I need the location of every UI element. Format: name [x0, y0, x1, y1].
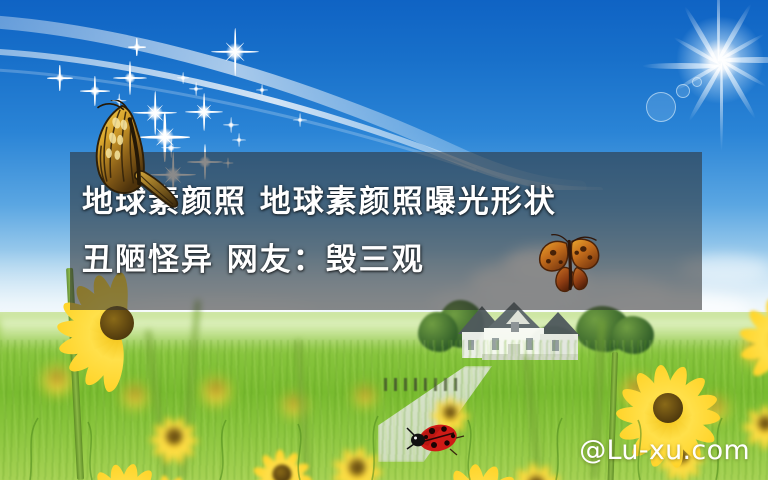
lens-flare-icon	[646, 92, 676, 122]
orange-butterfly	[534, 232, 610, 298]
yellow-flower	[736, 286, 768, 382]
swallowtail-butterfly	[88, 100, 192, 214]
lens-flare-icon	[692, 77, 702, 87]
image-canvas: 地球素颜照 地球素颜照曝光形状 丑陋怪异 网友：毁三观 @Lu-xu.com	[0, 0, 768, 480]
ladybug	[404, 416, 466, 460]
lens-flare-icon	[676, 84, 690, 98]
site-watermark: @Lu-xu.com	[579, 435, 750, 466]
